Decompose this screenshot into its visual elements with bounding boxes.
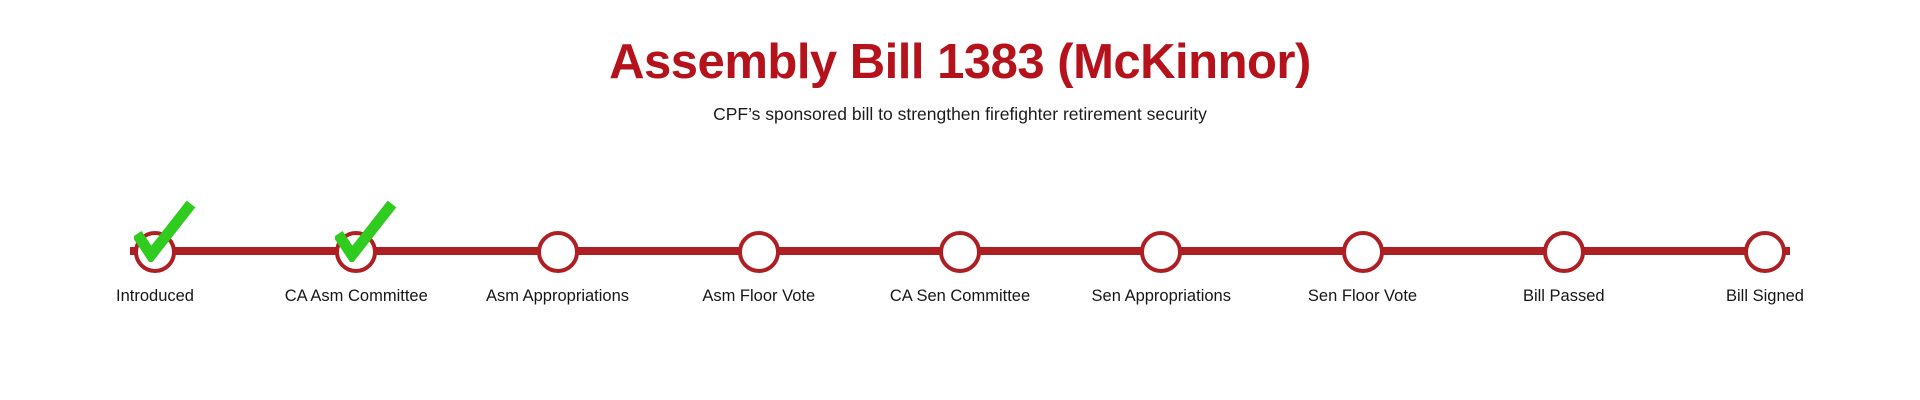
timeline-step-label: Sen Appropriations [1071, 287, 1251, 307]
timeline-steps: IntroducedCA Asm CommitteeAsm Appropriat… [130, 186, 1790, 316]
timeline-step-label: Bill Passed [1474, 287, 1654, 307]
timeline-node[interactable] [738, 231, 780, 273]
node-circle-completed [335, 231, 377, 273]
node-circle-pending [939, 231, 981, 273]
timeline-step-label: Asm Appropriations [468, 287, 648, 307]
node-circle-pending [1140, 231, 1182, 273]
timeline-step[interactable]: Bill Signed [1675, 186, 1855, 316]
timeline-step-label: Asm Floor Vote [669, 287, 849, 307]
timeline-node[interactable] [939, 231, 981, 273]
timeline-step[interactable]: Sen Appropriations [1071, 186, 1251, 316]
timeline-node[interactable] [1543, 231, 1585, 273]
timeline-node[interactable] [1140, 231, 1182, 273]
timeline-step-label: CA Asm Committee [266, 287, 446, 307]
timeline-step[interactable]: Introduced [65, 186, 245, 316]
timeline-step-label: Sen Floor Vote [1273, 287, 1453, 307]
node-circle-completed [134, 231, 176, 273]
timeline-step[interactable]: Bill Passed [1474, 186, 1654, 316]
timeline-step[interactable]: Asm Appropriations [468, 186, 648, 316]
timeline-node[interactable] [134, 231, 176, 273]
timeline-step[interactable]: CA Asm Committee [266, 186, 446, 316]
timeline-step-label: Introduced [65, 287, 245, 307]
page-header: Assembly Bill 1383 (McKinnor) CPF’s spon… [0, 0, 1920, 126]
timeline-node[interactable] [335, 231, 377, 273]
timeline-node[interactable] [1744, 231, 1786, 273]
node-circle-pending [1543, 231, 1585, 273]
timeline-node[interactable] [537, 231, 579, 273]
timeline-step[interactable]: Asm Floor Vote [669, 186, 849, 316]
timeline-step[interactable]: Sen Floor Vote [1273, 186, 1453, 316]
bill-timeline-page: Assembly Bill 1383 (McKinnor) CPF’s spon… [0, 0, 1920, 400]
timeline-node[interactable] [1342, 231, 1384, 273]
timeline-step-label: CA Sen Committee [870, 287, 1050, 307]
page-subtitle: CPF’s sponsored bill to strengthen firef… [0, 103, 1920, 126]
bill-progress-timeline: IntroducedCA Asm CommitteeAsm Appropriat… [130, 186, 1790, 316]
timeline-step-label: Bill Signed [1675, 287, 1855, 307]
node-circle-pending [1744, 231, 1786, 273]
page-title: Assembly Bill 1383 (McKinnor) [0, 34, 1920, 90]
node-circle-pending [738, 231, 780, 273]
timeline-step[interactable]: CA Sen Committee [870, 186, 1050, 316]
node-circle-pending [537, 231, 579, 273]
node-circle-pending [1342, 231, 1384, 273]
